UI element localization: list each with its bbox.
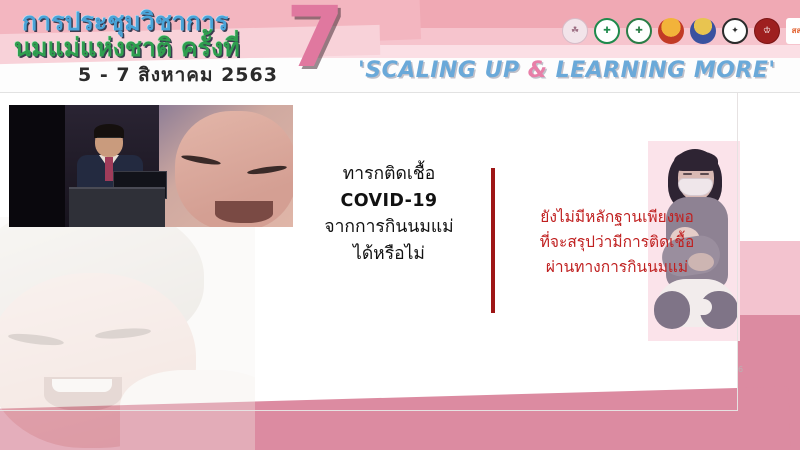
background-panel-right-top [738, 93, 800, 241]
illustration-eye-left [683, 173, 692, 175]
logo-ministry-public-health-icon: ✚ [594, 18, 620, 44]
illustration-face-mask-icon [678, 178, 713, 196]
conference-tagline: 'SCALING UP & LEARNING MORE' [358, 58, 776, 83]
baby-background-photo [0, 217, 255, 450]
speaker-podium [69, 187, 165, 227]
question-line-4: ได้หรือไม่ [300, 241, 478, 268]
logo-department-health-icon: ✚ [626, 18, 652, 44]
background-panel-right-mid [738, 241, 800, 315]
tagline-part-open: 'SCALING UP [358, 58, 528, 83]
tagline-ampersand: & [528, 58, 548, 83]
presentation-slide: ทารกติดเชื้อ COVID-19 จากการกินนมแม่ ได้… [0, 93, 800, 450]
question-text-block: ทารกติดเชื้อ COVID-19 จากการกินนมแม่ ได้… [300, 161, 478, 267]
conference-edition-number: 7 [286, 0, 344, 86]
baby-photo-teeth [52, 379, 112, 392]
speaker-glasses-icon [97, 137, 121, 142]
logo-thaihealth-sss-icon: สสส [786, 18, 800, 44]
slide-number: 6 [738, 365, 743, 374]
tagline-part-close: LEARNING MORE' [547, 58, 775, 83]
answer-line-3: ผ่านทางการกินนมแม่ [498, 255, 736, 280]
question-line-3: จากการกินนมแม่ [300, 214, 478, 241]
logo-university-crest-icon: ♔ [754, 18, 780, 44]
answer-text-block: ยังไม่มีหลักฐานเพียงพอ ที่จะสรุปว่ามีการ… [498, 205, 736, 280]
speaker-necktie [105, 157, 113, 181]
sponsor-logo-row: ☘ ✚ ✚ ✦ ♔ สสส [562, 18, 800, 44]
speaker-video-panel[interactable] [9, 105, 293, 227]
illustration-hair-front [674, 151, 718, 171]
logo-royal-college-icon [690, 18, 716, 44]
speaker-stage-shadow [9, 105, 65, 227]
illustration-leg-left [654, 291, 690, 329]
question-line-1: ทารกติดเชื้อ [300, 161, 478, 188]
conference-banner: การประชุมวิชาการ นมแม่แห่งชาติ ครั้งที่ … [0, 0, 800, 93]
baby-photo-shirt [120, 370, 255, 450]
logo-pediatric-society-icon: ✦ [722, 18, 748, 44]
answer-line-2: ที่จะสรุปว่ามีการติดเชื้อ [498, 230, 736, 255]
conference-date: 5 - 7 สิงหาคม 2563 [78, 60, 278, 90]
illustration-foot [690, 299, 712, 315]
illustration-eye-right [700, 173, 709, 175]
projected-baby-mouth [215, 201, 273, 223]
logo-royal-emblem-icon [658, 18, 684, 44]
vertical-divider-bar [491, 168, 495, 313]
slide-screenshot: การประชุมวิชาการ นมแม่แห่งชาติ ครั้งที่ … [0, 0, 800, 450]
question-line-2: COVID-19 [300, 188, 478, 215]
answer-line-1: ยังไม่มีหลักฐานเพียงพอ [498, 205, 736, 230]
logo-thai-breastfeeding-foundation-icon: ☘ [562, 18, 588, 44]
speaker-hair [94, 124, 124, 138]
